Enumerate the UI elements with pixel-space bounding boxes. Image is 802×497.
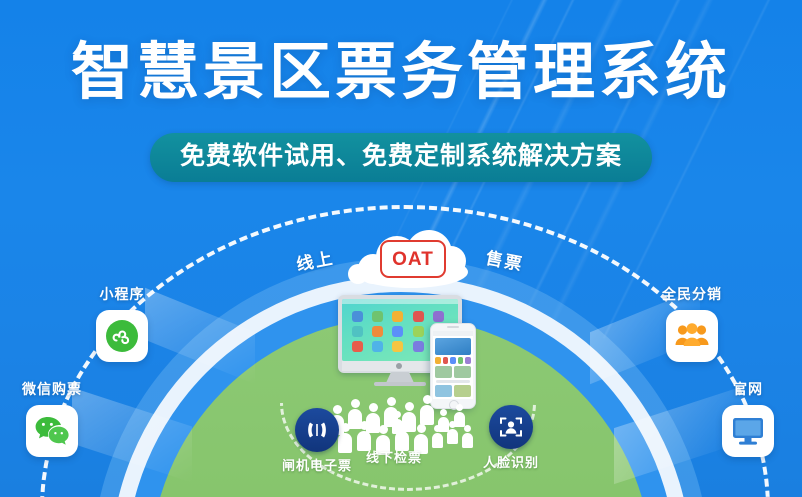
turnstile-gate-icon[interactable] [295, 408, 339, 452]
channel-miniprogram-label: 小程序 [96, 284, 148, 304]
brand-badge-text: OAT [392, 250, 434, 269]
offline-gate-ticket-label: 闸机电子票 [282, 455, 352, 474]
offline-gate-ticket[interactable]: 闸机电子票 [282, 408, 352, 474]
face-recognition-icon[interactable] [489, 405, 533, 449]
wechat-miniprogram-icon[interactable] [96, 310, 148, 362]
offline-face-recognition-label: 人脸识别 [483, 452, 539, 471]
channel-wechat[interactable]: 微信购票 [22, 379, 82, 457]
illustration-scene: OAT 线上 售票 小程序 微信购票 [0, 195, 802, 497]
brand-badge: OAT [380, 240, 446, 278]
channel-distribution-label: 全民分销 [662, 284, 722, 304]
channel-miniprogram[interactable]: 小程序 [96, 284, 148, 362]
offline-face-recognition[interactable]: 人脸识别 [483, 405, 539, 471]
subtitle-text: 免费软件试用、免费定制系统解决方案 [180, 142, 622, 171]
promo-banner: 智慧景区票务管理系统 免费软件试用、免费定制系统解决方案 OAT 线上 售票 小… [0, 0, 802, 497]
people-group-icon[interactable] [666, 310, 718, 362]
wechat-icon[interactable] [26, 405, 78, 457]
subtitle-badge: 免费软件试用、免费定制系统解决方案 [150, 133, 652, 182]
channel-website-label: 官网 [722, 379, 774, 399]
monitor-icon[interactable] [722, 405, 774, 457]
channel-distribution[interactable]: 全民分销 [662, 284, 722, 362]
visitor-crowd [330, 391, 490, 451]
channel-website[interactable]: 官网 [722, 379, 774, 457]
cloud-graphic: OAT [352, 228, 470, 290]
channel-wechat-label: 微信购票 [22, 379, 82, 399]
label-offline-checkin: 线下检票 [366, 447, 422, 466]
page-title: 智慧景区票务管理系统 [0, 42, 802, 104]
